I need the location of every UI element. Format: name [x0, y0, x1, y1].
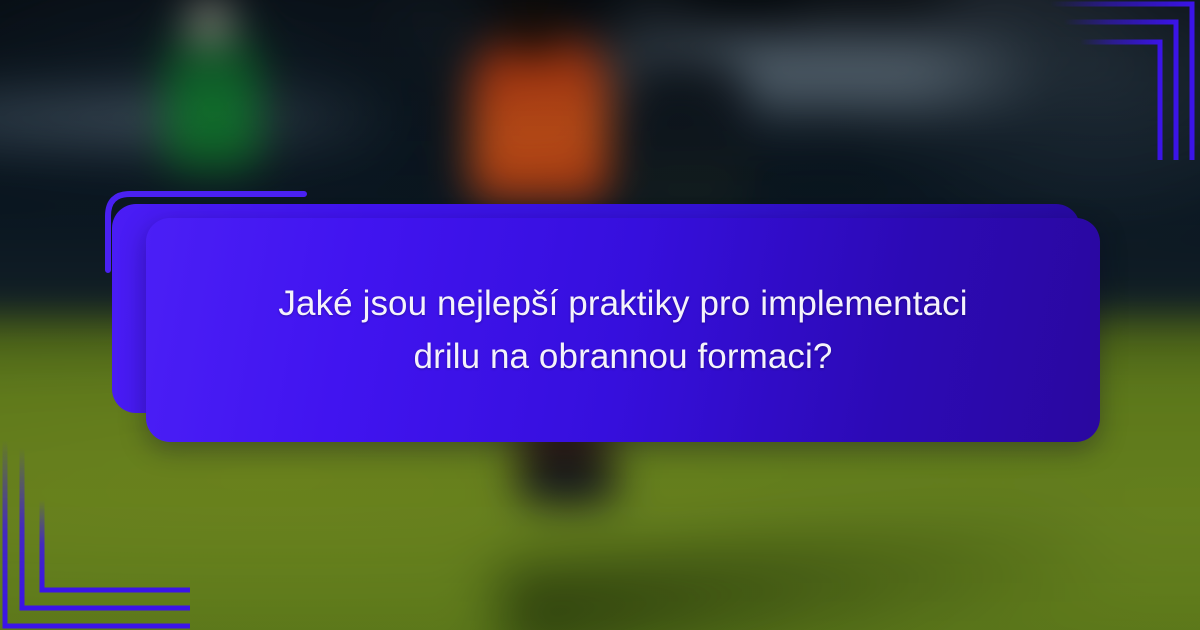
quote-text: Jaké jsou nejlepší praktiky pro implemen… — [278, 277, 967, 383]
quote-line-1: Jaké jsou nejlepší praktiky pro implemen… — [278, 284, 967, 323]
quote-card: Jaké jsou nejlepší praktiky pro implemen… — [104, 190, 1100, 442]
corner-decoration-bottom-left — [0, 440, 190, 630]
screenshot-root: Jaké jsou nejlepší praktiky pro implemen… — [0, 0, 1200, 630]
corner-decoration-top-right — [1050, 0, 1200, 160]
card-text-area: Jaké jsou nejlepší praktiky pro implemen… — [146, 218, 1100, 442]
quote-line-2: drilu na obrannou formaci? — [414, 337, 833, 376]
